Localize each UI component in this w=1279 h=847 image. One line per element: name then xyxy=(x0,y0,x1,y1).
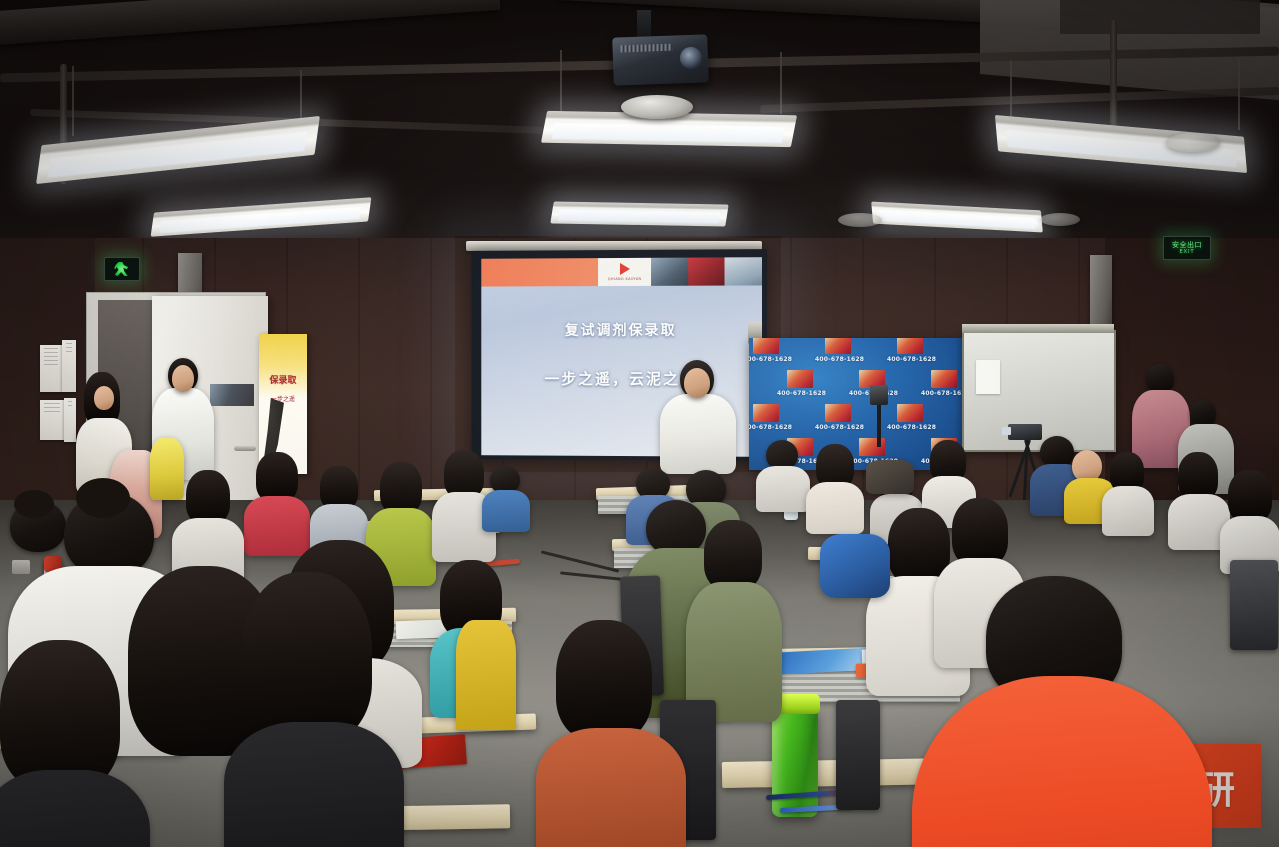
backdrop-logo-icon xyxy=(753,338,779,354)
ceiling-pipe xyxy=(1110,20,1117,130)
slide-header-photo xyxy=(651,258,688,286)
wall-poster xyxy=(62,340,76,392)
hair xyxy=(1228,470,1272,522)
backdrop-logo-icon xyxy=(825,338,851,354)
hair xyxy=(556,620,652,740)
brand-logo-label: QIHANG KAOYAN xyxy=(608,277,642,281)
lamp-hanger xyxy=(1238,58,1240,130)
torso xyxy=(806,482,864,534)
chair xyxy=(1230,560,1278,650)
yellow-bag xyxy=(456,620,516,730)
backdrop-phone-number: 400-678-1628 xyxy=(815,356,864,363)
torso xyxy=(482,490,530,532)
green-water-bottle xyxy=(772,709,818,817)
door-handle-icon[interactable] xyxy=(234,446,256,451)
blue-backpack xyxy=(820,534,890,598)
brand-logo: QIHANG KAOYAN xyxy=(598,258,651,286)
ceiling-projector xyxy=(612,34,709,85)
posted-note xyxy=(976,360,1000,394)
slide-title: 复试调剂保录取 xyxy=(481,320,762,340)
lamp-hanger xyxy=(72,66,74,136)
slide-subtitle: 一步之遥，云泥之别 xyxy=(481,368,762,389)
hair xyxy=(380,462,422,514)
hvac-vent xyxy=(1060,0,1260,34)
torso xyxy=(244,496,310,556)
projector-vent xyxy=(620,44,672,53)
backdrop-logo-icon xyxy=(897,338,923,354)
hair xyxy=(242,572,372,742)
black-lace-top xyxy=(224,722,404,847)
ceiling-dome-light xyxy=(1166,133,1220,152)
backdrop-logo-icon xyxy=(825,404,851,422)
rust-top xyxy=(536,728,686,847)
backdrop-phone-number: 400-678-1628 xyxy=(887,424,936,431)
seminar-room-photo: 安全出口 EXIT 保录取 一步之遥 QIHANG KAOYAN xyxy=(0,0,1279,847)
emergency-exit-icon xyxy=(104,257,140,281)
video-camera xyxy=(1008,424,1042,440)
hair-bun xyxy=(14,490,54,518)
hair xyxy=(444,450,484,498)
backdrop-logo-icon xyxy=(787,370,813,388)
wall-poster xyxy=(64,398,76,442)
exit-sign-label-cn: 安全出口 xyxy=(1172,241,1202,249)
camera-body xyxy=(870,385,888,405)
lamp-hanger xyxy=(560,50,562,116)
door-picture xyxy=(210,384,254,406)
wall-speaker xyxy=(1090,255,1112,335)
sail-logo-icon xyxy=(620,263,630,275)
hair xyxy=(704,520,762,590)
rollup-headline: 保录取 xyxy=(262,376,304,387)
yellow-top xyxy=(150,438,184,500)
hair xyxy=(186,470,230,524)
whiteboard-tray xyxy=(962,324,1114,333)
backdrop-phone-number: 400-678-1628 xyxy=(921,390,963,397)
hair xyxy=(1178,452,1218,500)
tripod-leg xyxy=(1009,440,1031,498)
hair xyxy=(0,640,120,790)
wall-poster xyxy=(40,345,62,392)
backdrop-logo-icon xyxy=(753,404,779,422)
fluorescent-light xyxy=(550,202,728,227)
slide-header-photo xyxy=(725,257,762,285)
face xyxy=(94,386,114,410)
backdrop-phone-number: 400-678-1628 xyxy=(815,424,864,431)
projector-lens xyxy=(680,47,703,70)
presenter-face xyxy=(684,368,710,398)
hair xyxy=(256,452,298,502)
hair xyxy=(952,498,1008,566)
exit-sign-label-en: EXIT xyxy=(1179,249,1194,255)
hair-bun xyxy=(76,478,130,518)
backdrop-phone-number: 400-678-1628 xyxy=(777,390,826,397)
camera-on-stand xyxy=(868,385,890,447)
running-man-icon xyxy=(114,262,130,276)
ceiling-dome-light xyxy=(1040,213,1080,226)
backdrop-phone-number: 400-678-1628 xyxy=(749,424,792,431)
backdrop-phone-number: 400-678-1628 xyxy=(887,356,936,363)
backdrop-phone-number: 400-678-1628 xyxy=(749,356,792,363)
chair xyxy=(836,700,880,810)
wall-outlet xyxy=(12,560,30,574)
stand-post xyxy=(877,405,881,447)
presenter-shirt xyxy=(660,394,736,474)
wall-poster xyxy=(40,400,64,440)
backdrop-logo-icon xyxy=(897,404,923,422)
ceiling-dome-light xyxy=(838,213,882,227)
face xyxy=(172,365,194,392)
slide-header-accent xyxy=(481,258,598,286)
ceiling-dome-light xyxy=(621,95,693,119)
camera-screen xyxy=(1002,427,1011,435)
slide-header: QIHANG KAOYAN xyxy=(481,257,762,286)
torso xyxy=(756,466,810,512)
slide-header-photo xyxy=(688,257,725,285)
torso xyxy=(1102,486,1154,536)
backdrop-logo-icon xyxy=(931,370,957,388)
emergency-exit-sign: 安全出口 EXIT xyxy=(1163,236,1211,260)
lamp-hanger xyxy=(780,52,782,114)
dark-bag xyxy=(866,460,914,494)
